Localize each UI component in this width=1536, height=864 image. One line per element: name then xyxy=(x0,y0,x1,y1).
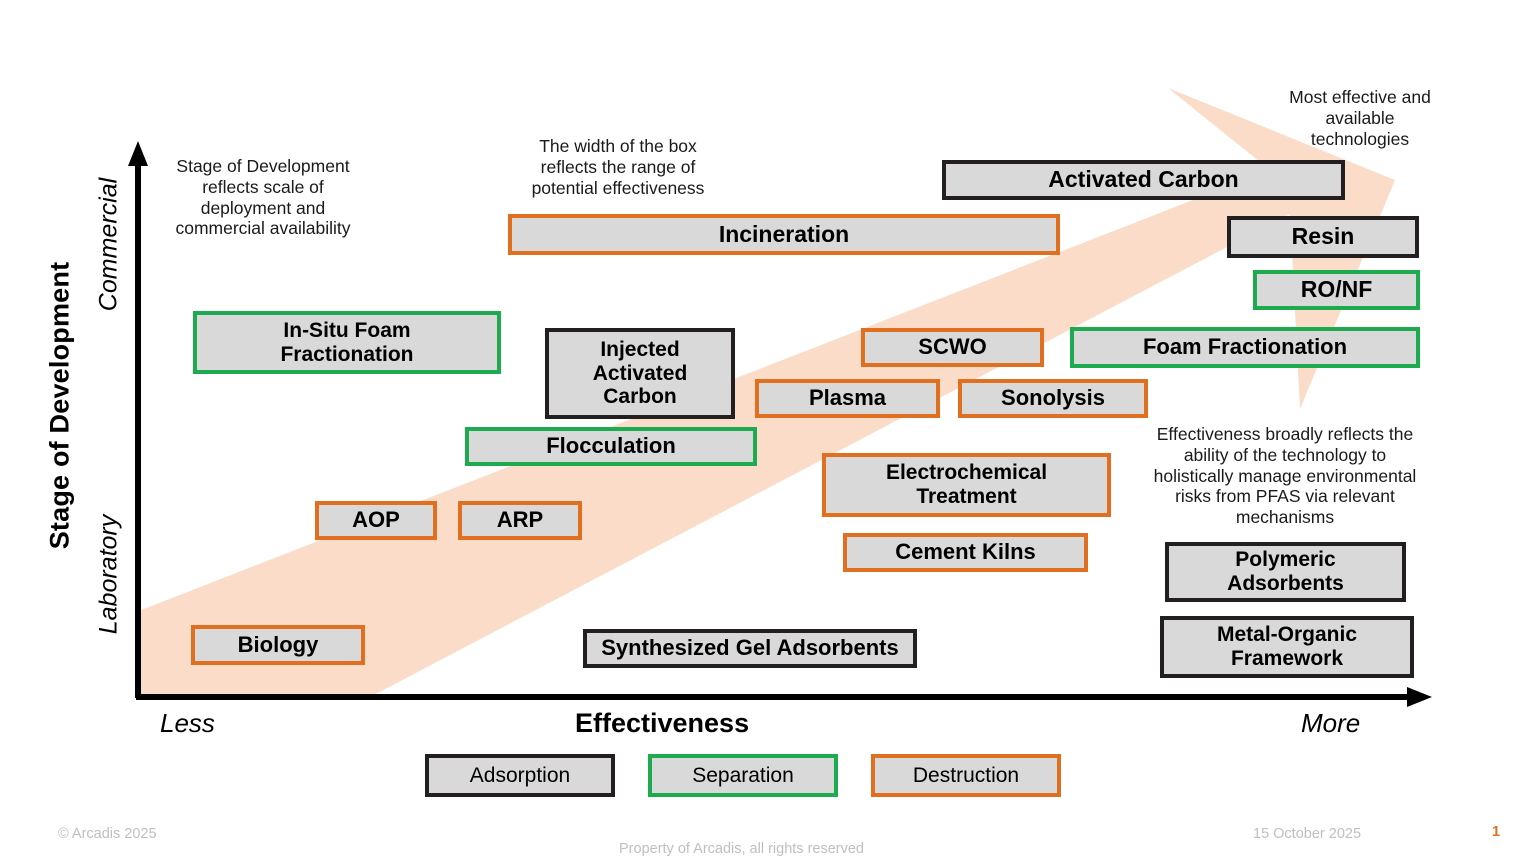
technology-box[interactable]: Synthesized Gel Adsorbents xyxy=(583,629,917,668)
y-tick-laboratory: Laboratory xyxy=(95,460,124,690)
technology-box[interactable]: Injected Activated Carbon xyxy=(545,328,735,419)
technology-box[interactable]: In-Situ Foam Fractionation xyxy=(193,311,501,374)
technology-box[interactable]: Activated Carbon xyxy=(942,160,1345,200)
technology-box[interactable]: Polymeric Adsorbents xyxy=(1165,542,1406,602)
x-axis-title: Effectiveness xyxy=(575,708,749,739)
note-stage-of-development: Stage of Development reflects scale of d… xyxy=(163,156,363,239)
technology-box[interactable]: ARP xyxy=(458,501,582,540)
slide-canvas: Stage of Development Commercial Laborato… xyxy=(0,0,1536,864)
note-most-effective: Most effective and available technologie… xyxy=(1285,87,1435,149)
slide-footer: © Arcadis 2025 Property of Arcadis, all … xyxy=(0,820,1536,864)
x-tick-more: More xyxy=(1301,708,1360,739)
technology-box[interactable]: AOP xyxy=(315,501,437,540)
technology-box[interactable]: Incineration xyxy=(508,214,1060,255)
y-axis-title: Stage of Development xyxy=(45,196,76,616)
technology-box[interactable]: Resin xyxy=(1227,216,1419,258)
note-box-width: The width of the box reflects the range … xyxy=(518,136,718,198)
technology-box[interactable]: RO/NF xyxy=(1253,270,1420,310)
technology-box[interactable]: Cement Kilns xyxy=(843,533,1088,572)
legend-item-separation[interactable]: Separation xyxy=(648,754,838,797)
technology-box[interactable]: Electrochemical Treatment xyxy=(822,453,1111,517)
legend-item-destruction[interactable]: Destruction xyxy=(871,754,1061,797)
technology-box[interactable]: Plasma xyxy=(755,379,940,418)
footer-page-number: 1 xyxy=(1492,824,1500,840)
technology-box[interactable]: Biology xyxy=(191,625,365,665)
x-tick-less: Less xyxy=(160,708,215,739)
note-effectiveness: Effectiveness broadly reflects the abili… xyxy=(1149,424,1421,528)
y-tick-commercial: Commercial xyxy=(95,130,124,360)
footer-date: 15 October 2025 xyxy=(1253,826,1361,842)
category-legend: AdsorptionSeparationDestruction xyxy=(425,754,1061,797)
technology-box[interactable]: Flocculation xyxy=(465,427,757,466)
technology-box[interactable]: SCWO xyxy=(861,328,1044,367)
technology-box[interactable]: Metal-Organic Framework xyxy=(1160,616,1414,678)
footer-copyright: © Arcadis 2025 xyxy=(58,826,157,842)
legend-item-adsorption[interactable]: Adsorption xyxy=(425,754,615,797)
technology-box[interactable]: Foam Fractionation xyxy=(1070,327,1420,368)
footer-property: Property of Arcadis, all rights reserved xyxy=(619,841,864,857)
technology-box[interactable]: Sonolysis xyxy=(958,379,1148,418)
